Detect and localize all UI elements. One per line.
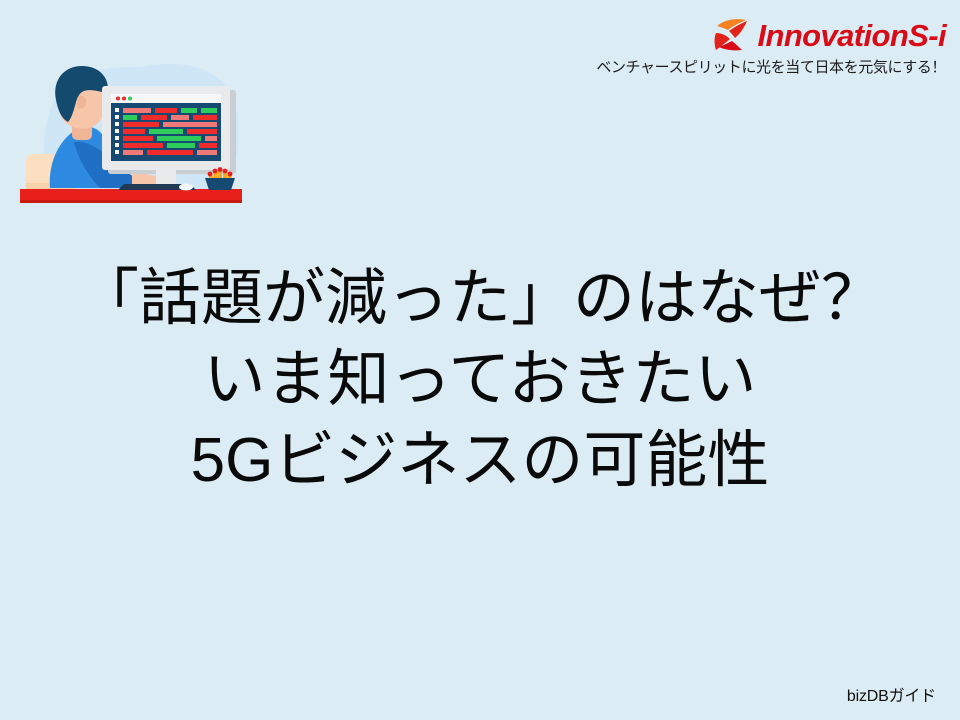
- monitor-stand: [156, 170, 176, 186]
- innovations-i-swoosh-icon: [713, 17, 753, 51]
- brand-tagline: ベンチャースピリットに光を当て日本を元気にする！: [594, 59, 946, 77]
- browser-dot-red: [116, 97, 120, 101]
- brand-header: InnovationS-i ベンチャースピリットに光を当て日本を元気にする！: [594, 14, 946, 77]
- brand-logo-row: InnovationS-i: [594, 14, 946, 54]
- slide-canvas: InnovationS-i ベンチャースピリットに光を当て日本を元気にする！ 「…: [0, 0, 960, 720]
- title-line-1: 「話題が減った」のはなぜ？: [0, 258, 960, 339]
- browser-dot-green: [128, 97, 132, 101]
- slide-footer-label: bizDBガイド: [847, 682, 936, 706]
- brand-wordmark: InnovationS-i: [757, 20, 946, 51]
- mouse: [179, 184, 193, 191]
- title-line-3: 5Gビジネスの可能性: [0, 420, 960, 501]
- slide-title: 「話題が減った」のはなぜ？ いま知っておきたい 5Gビジネスの可能性: [0, 258, 960, 502]
- desk-edge: [20, 200, 242, 203]
- title-line-2: いま知っておきたい: [0, 339, 960, 420]
- person-at-computer-illustration: [14, 56, 260, 214]
- browser-dot-red-2: [122, 97, 126, 101]
- person-ear: [77, 95, 86, 108]
- browser-chrome-bar: [111, 94, 221, 103]
- desk-surface: [20, 189, 242, 200]
